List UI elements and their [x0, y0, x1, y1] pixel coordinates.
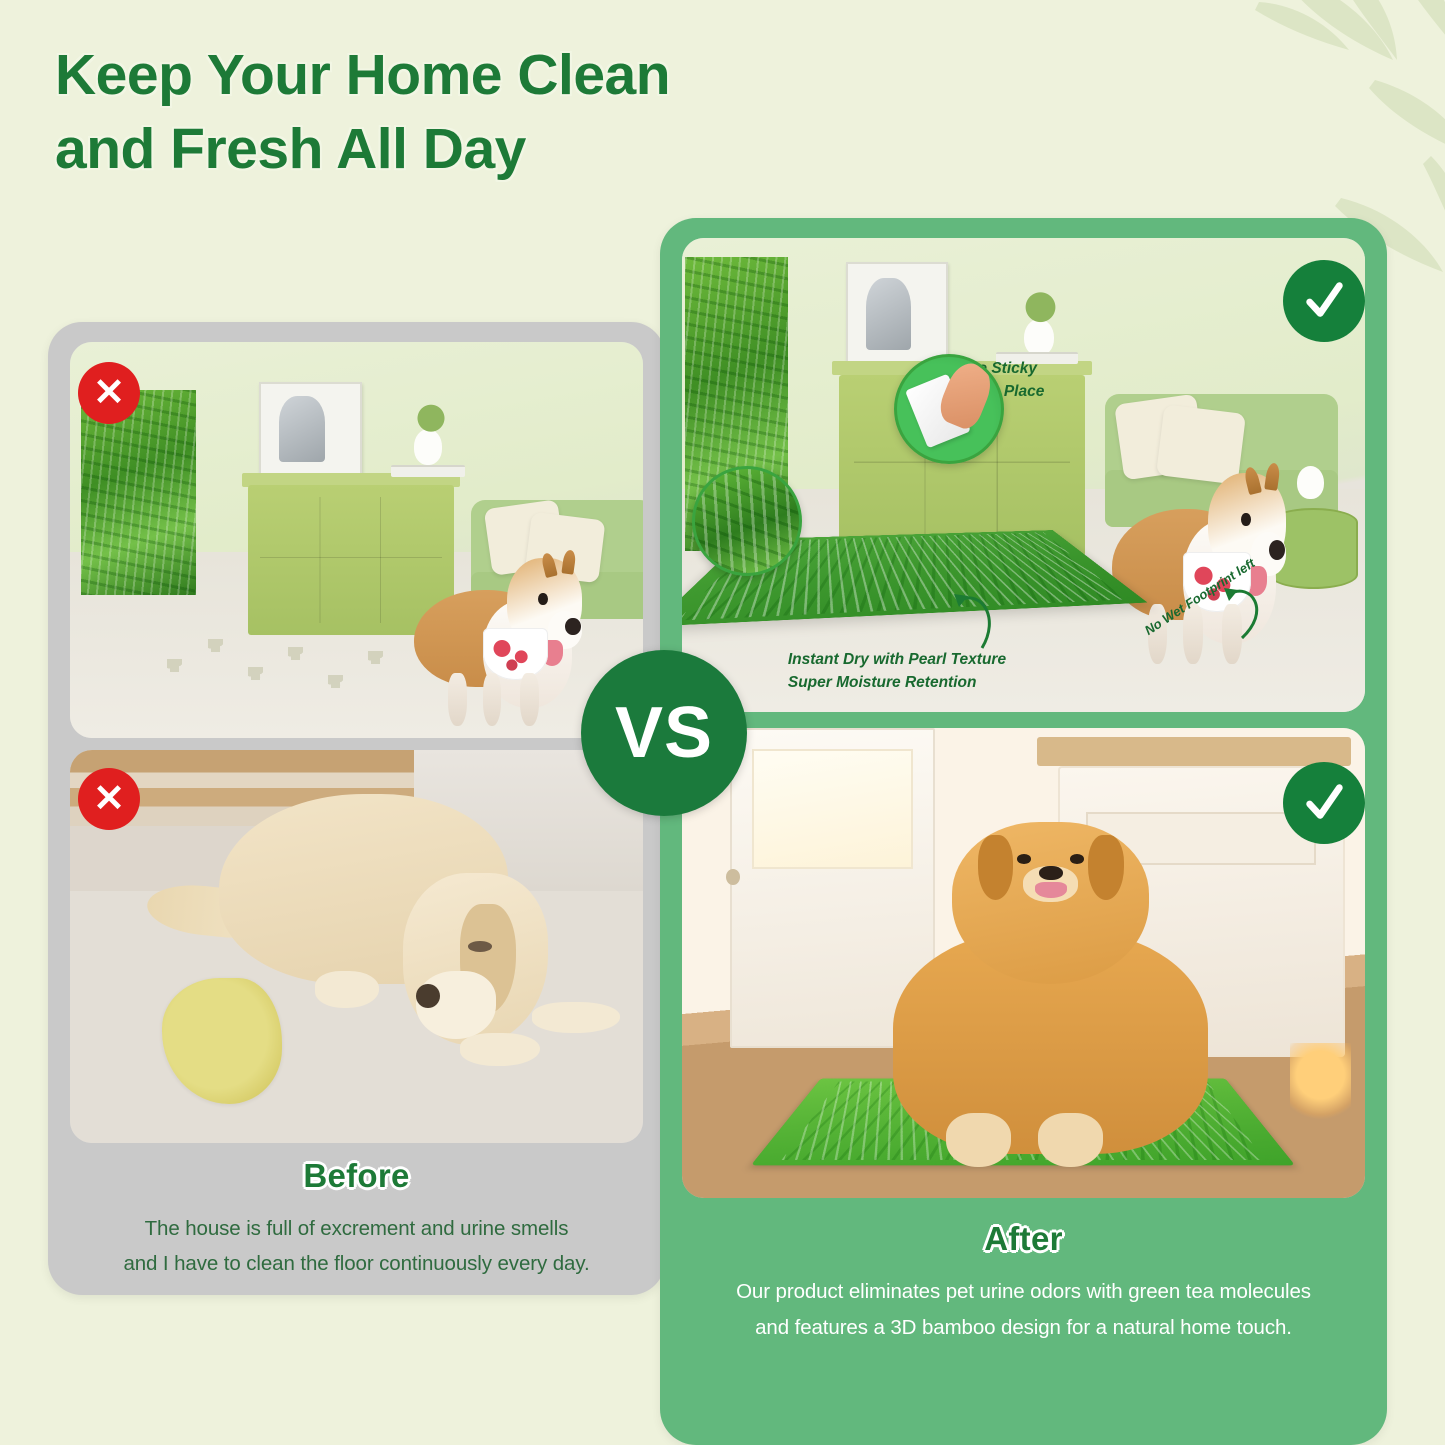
annotation-instant-dry: Instant Dry with Pearl Texture Super Moi… — [788, 648, 1006, 695]
corgi-dog — [1112, 461, 1290, 660]
check-icon — [1301, 278, 1347, 324]
headline-line-2: and Fresh All Day — [55, 112, 955, 186]
after-label: After — [660, 1220, 1387, 1258]
before-photo-urine-accident — [70, 750, 643, 1143]
after-description-line-2: and features a 3D bamboo design for a na… — [688, 1310, 1360, 1346]
after-photo-product-features: Adhesive Sticky Keep Pad in Place Instan… — [682, 238, 1365, 712]
check-badge-bottom-right — [1283, 762, 1365, 844]
before-photo-living-room — [70, 342, 643, 738]
before-card: Before The house is full of excrement an… — [48, 322, 665, 1295]
after-card: Adhesive Sticky Keep Pad in Place Instan… — [660, 218, 1387, 1445]
after-description: Our product eliminates pet urine odors w… — [688, 1274, 1360, 1347]
adhesive-tab-zoom-circle — [894, 354, 1004, 464]
before-caption: Before The house is full of excrement an… — [48, 1157, 665, 1282]
vs-label: VS — [615, 692, 713, 774]
before-description: The house is full of excrement and urine… — [48, 1211, 665, 1282]
vs-badge: VS — [581, 650, 747, 816]
corgi-dog — [414, 548, 586, 722]
headline-line-1: Keep Your Home Clean — [55, 43, 670, 107]
close-icon: ✕ — [93, 374, 125, 412]
check-badge-top-right — [1283, 260, 1365, 342]
before-label: Before — [48, 1157, 665, 1195]
check-icon — [1301, 780, 1347, 826]
after-photo-dog-on-pad — [682, 728, 1365, 1198]
before-description-line-1: The house is full of excrement and urine… — [48, 1211, 665, 1246]
cross-badge-bottom-left: ✕ — [78, 768, 140, 830]
after-caption: After Our product eliminates pet urine o… — [660, 1220, 1387, 1347]
bamboo-texture-zoom-circle — [692, 466, 802, 576]
after-description-line-1: Our product eliminates pet urine odors w… — [688, 1274, 1360, 1310]
cross-badge-top-left: ✕ — [78, 362, 140, 424]
page-headline: Keep Your Home Clean and Fresh All Day — [55, 38, 955, 186]
happy-dog — [887, 822, 1215, 1160]
sad-dog — [219, 781, 620, 1088]
close-icon: ✕ — [93, 780, 125, 818]
before-description-line-2: and I have to clean the floor continuous… — [48, 1246, 665, 1281]
